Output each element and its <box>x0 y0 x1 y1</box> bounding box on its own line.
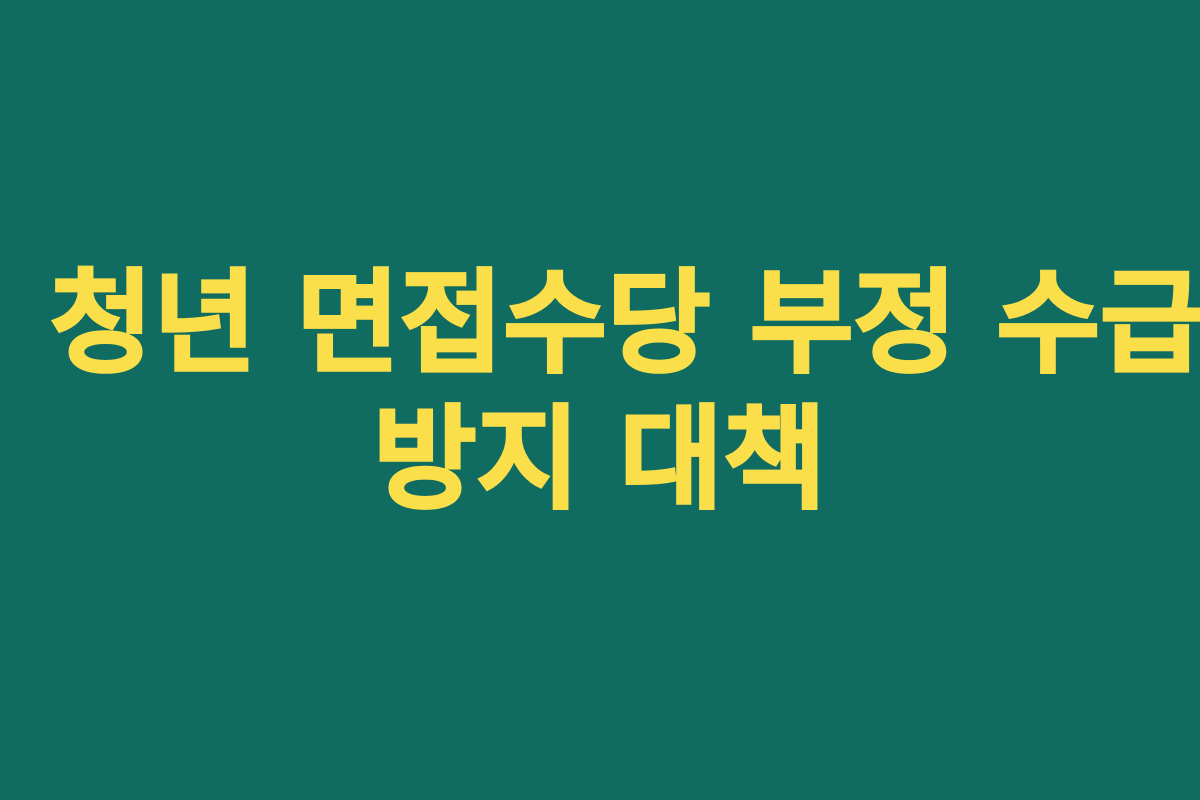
title-card: 청년 면접수당 부정 수급 방지 대책 <box>0 0 1200 800</box>
page-title: 청년 면접수당 부정 수급 방지 대책 <box>50 256 1150 528</box>
page-title-line-2: 방지 대책 <box>50 392 1150 528</box>
page-title-line-1: 청년 면접수당 부정 수급 <box>50 256 1150 392</box>
